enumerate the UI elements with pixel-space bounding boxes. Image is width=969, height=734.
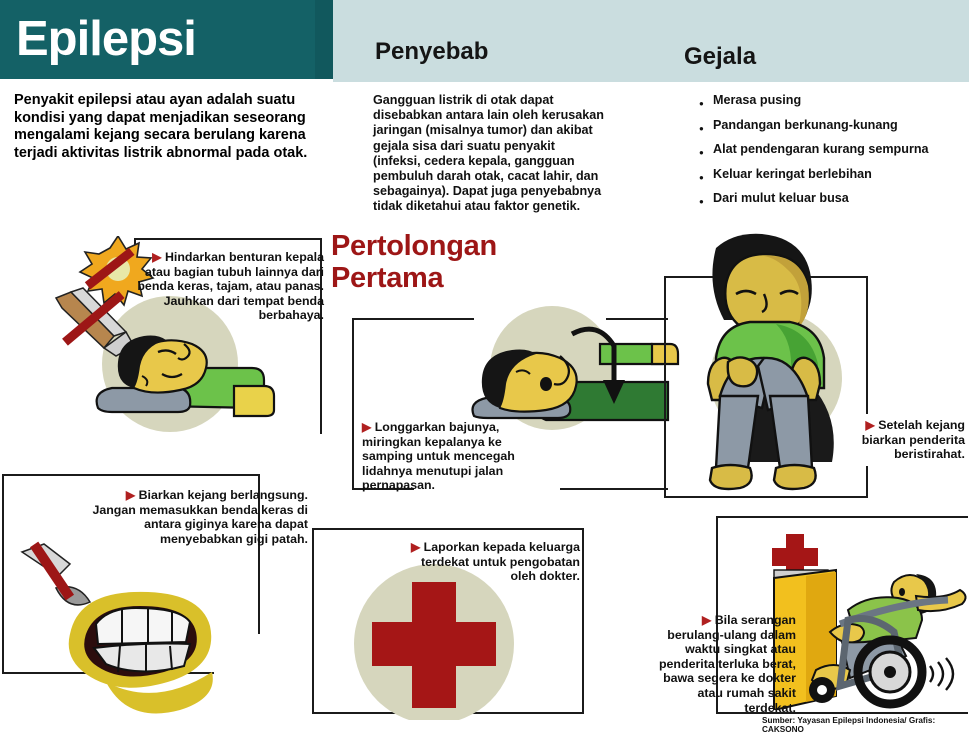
eye xyxy=(899,588,905,596)
source-credit: Sumber: Yayasan Epilepsi Indonesia/ Graf… xyxy=(762,716,969,734)
tip-text: Laporkan kepada keluarga terdekat untuk … xyxy=(421,540,580,583)
tip-text: Biarkan kejang berlangsung. Jangan memas… xyxy=(92,488,308,546)
tip-report-family: ▶ Laporkan kepada keluarga terdekat untu… xyxy=(394,540,580,584)
panel3-frame-left xyxy=(2,474,4,674)
illustration-recovery-position xyxy=(440,300,680,435)
upper-teeth xyxy=(96,608,190,644)
bullet-arrow-icon: ▶ xyxy=(126,488,135,502)
panel4-frame-left xyxy=(312,528,314,714)
tip-text: Setelah kejang biarkan penderita beristi… xyxy=(862,418,965,461)
illustration-clenched-teeth xyxy=(14,530,244,730)
hands xyxy=(728,357,757,386)
left-foot xyxy=(710,465,752,489)
list-item: Merasa pusing xyxy=(713,93,961,108)
panel6-frame-top xyxy=(716,516,968,518)
tip-let-rest: ▶ Setelah kejang biarkan penderita beris… xyxy=(845,418,965,462)
cause-paragraph: Gangguan listrik di otak dapat disebabka… xyxy=(373,93,605,215)
list-item: Alat pendengaran kurang sempurna xyxy=(713,142,961,157)
infographic-canvas: Epilepsi Penyebab Gejala Penyakit epilep… xyxy=(0,0,969,734)
trousers xyxy=(234,386,274,416)
page-title: Epilepsi xyxy=(16,9,196,69)
tip-loosen-clothes: ▶ Longgarkan bajunya, miringkan kepalany… xyxy=(362,420,554,493)
first-aid-title-line2: Pertama xyxy=(331,262,497,294)
tip-text: Longgarkan bajunya, miringkan kepalanya … xyxy=(362,420,515,492)
tip-let-seizure-pass: ▶ Biarkan kejang berlangsung. Jangan mem… xyxy=(92,488,308,546)
header-band-left-edge xyxy=(315,0,333,79)
tip-text: Bila serangan berulang-ulang dalam waktu… xyxy=(659,613,796,715)
list-item: Dari mulut keluar busa xyxy=(713,191,961,206)
section-heading-cause: Penyebab xyxy=(375,38,488,66)
right-foot xyxy=(774,465,816,489)
list-item: Pandangan berkunang-kunang xyxy=(713,118,961,133)
tip-text: Hindarkan benturan kepala atau bagian tu… xyxy=(137,250,324,322)
tip-go-to-hospital: ▶ Bila serangan berulang-ulang dalam wak… xyxy=(648,613,796,715)
spoon-prohibited-icon xyxy=(22,542,90,605)
list-item: Keluar keringat berlebihan xyxy=(713,167,961,182)
panel4-frame-right xyxy=(582,528,584,714)
bullet-arrow-icon: ▶ xyxy=(702,613,711,627)
person-lying-figure xyxy=(97,336,274,417)
bullet-arrow-icon: ▶ xyxy=(152,250,161,264)
eye xyxy=(540,377,552,391)
illustration-red-cross xyxy=(338,560,538,720)
wheel-small-hub xyxy=(817,685,827,695)
motion-lines xyxy=(930,658,953,690)
tip-avoid-impact: ▶ Hindarkan benturan kepala atau bagian … xyxy=(128,250,324,323)
panel2-frame-bottom-right xyxy=(560,488,668,490)
first-aid-title-line1: Pertolongan xyxy=(331,230,497,262)
bullet-arrow-icon: ▶ xyxy=(866,418,875,432)
intro-paragraph: Penyakit epilepsi atau ayan adalah suatu… xyxy=(14,92,314,162)
bullet-arrow-icon: ▶ xyxy=(411,540,420,554)
wheel-large-hub xyxy=(884,666,896,678)
mouth-teeth-figure xyxy=(69,592,213,714)
bullet-arrow-icon: ▶ xyxy=(362,420,371,434)
panel5-frame-left xyxy=(664,276,666,498)
panel2-frame-left xyxy=(352,318,354,490)
panel4-frame-top xyxy=(312,528,584,530)
section-heading-symptom: Gejala xyxy=(684,43,756,71)
first-aid-title: Pertolongan Pertama xyxy=(331,230,497,294)
symptom-list: Merasa pusing Pandangan berkunang-kunang… xyxy=(699,93,961,216)
panel3-frame-top xyxy=(2,474,260,476)
